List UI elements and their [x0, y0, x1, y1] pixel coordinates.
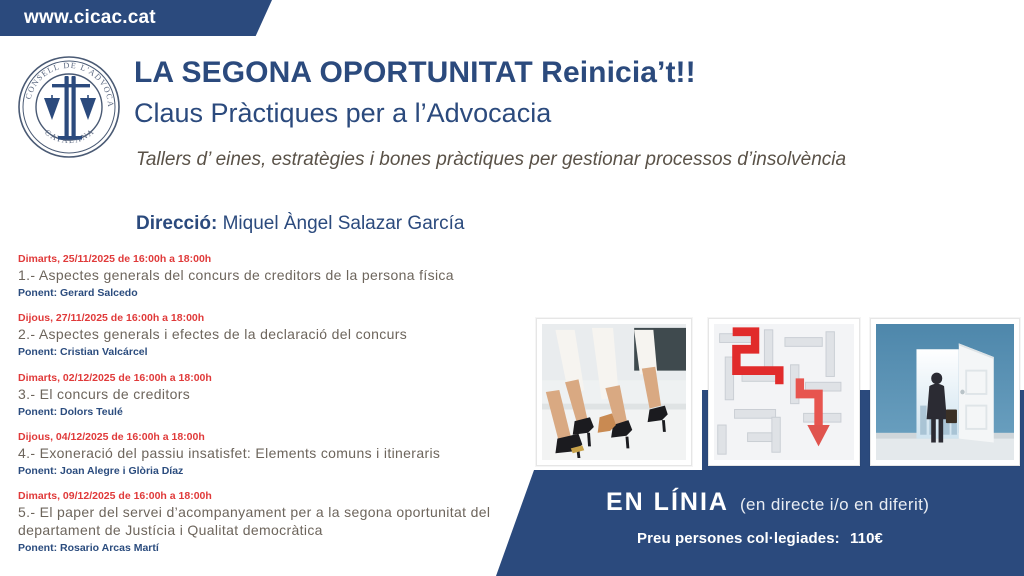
online-mode-label: EN LÍNIA: [606, 488, 729, 517]
session-list: Dimarts, 25/11/2025 de 16:00h a 18:00h 1…: [18, 252, 538, 566]
session-date: Dijous, 27/11/2025 de 16:00h a 18:00h: [18, 311, 538, 325]
photo-strip: [536, 318, 1024, 470]
session-title: 4.- Exoneració del passiu insatisfet: El…: [18, 445, 538, 463]
session-title: 3.- El concurs de creditors: [18, 386, 538, 404]
website-url-ribbon: www.cicac.cat: [0, 0, 272, 36]
session-speaker: Ponent: Gerard Salcedo: [18, 286, 538, 300]
online-mode-note: (en directe i/o en diferit): [740, 495, 929, 515]
businessman-open-door-photo: [870, 318, 1020, 466]
session-speaker: Ponent: Cristian Valcárcel: [18, 345, 538, 359]
price-line: Preu persones col·legiades: 110€: [496, 530, 1024, 547]
session-speaker: Ponent: Dolors Teulé: [18, 405, 538, 419]
session-title: 2.- Aspectes generals i efectes de la de…: [18, 326, 538, 344]
svg-text:CATALANA: CATALANA: [43, 127, 97, 146]
session-item: Dimarts, 25/11/2025 de 16:00h a 18:00h 1…: [18, 252, 538, 300]
cicac-logo: CONSELL DE L'ADVOCACIA CATALANA: [14, 52, 124, 162]
website-url-text: www.cicac.cat: [24, 7, 156, 29]
session-date: Dijous, 04/12/2025 de 16:00h a 18:00h: [18, 430, 538, 444]
poster-sub-title: Claus Pràctiques per a l’Advocacia: [134, 97, 1004, 129]
session-speaker: Ponent: Rosario Arcas Martí: [18, 541, 538, 555]
poster-description: Tallers d’ eines, estratègies i bones pr…: [136, 148, 986, 172]
direction-name: Miquel Àngel Salazar García: [223, 213, 465, 234]
session-title: 5.- El paper del servei d’acompanyament …: [18, 504, 538, 540]
session-title: 1.- Aspectes generals del concurs de cre…: [18, 267, 538, 285]
session-item: Dimarts, 02/12/2025 de 16:00h a 18:00h 3…: [18, 371, 538, 419]
session-date: Dimarts, 09/12/2025 de 16:00h a 18:00h: [18, 489, 538, 503]
session-speaker: Ponent: Joan Alegre i Glòria Díaz: [18, 464, 538, 478]
poster-main-title: LA SEGONA OPORTUNITAT Reinicia’t!!: [134, 56, 1004, 91]
session-item: Dijous, 04/12/2025 de 16:00h a 18:00h 4.…: [18, 430, 538, 478]
price-label: Preu persones col·legiades:: [637, 530, 840, 547]
direction-line: Direcció: Miquel Àngel Salazar García: [136, 213, 464, 235]
session-item: Dijous, 27/11/2025 de 16:00h a 18:00h 2.…: [18, 311, 538, 359]
online-banner: EN LÍNIA (en directe i/o en diferit) Pre…: [496, 470, 1024, 576]
online-mode-line: EN LÍNIA (en directe i/o en diferit): [606, 488, 929, 517]
poster-canvas: www.cicac.cat CONSELL DE L'ADVOCACIA CAT…: [0, 0, 1024, 576]
price-value: 110€: [850, 530, 883, 547]
red-arrow-maze-photo: [708, 318, 860, 466]
direction-label: Direcció:: [136, 213, 217, 234]
session-date: Dimarts, 02/12/2025 de 16:00h a 18:00h: [18, 371, 538, 385]
title-block: LA SEGONA OPORTUNITAT Reinicia’t!! Claus…: [134, 56, 1004, 129]
session-item: Dimarts, 09/12/2025 de 16:00h a 18:00h 5…: [18, 489, 538, 555]
session-date: Dimarts, 25/11/2025 de 16:00h a 18:00h: [18, 252, 538, 266]
people-walking-heels-photo: [536, 318, 692, 466]
